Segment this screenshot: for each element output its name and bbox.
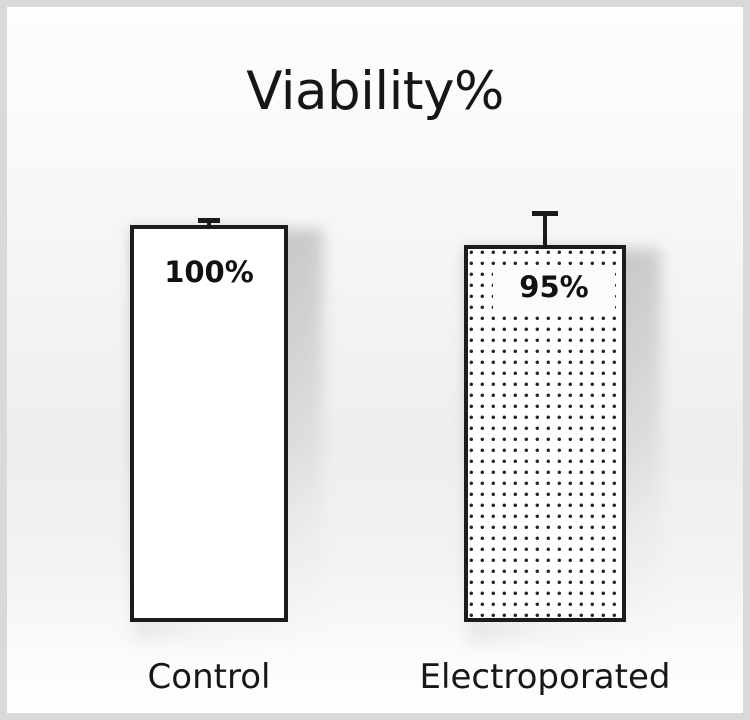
category-label-electroporated: Electroporated (405, 660, 685, 694)
error-bar-electroporated (532, 211, 558, 249)
plot-area: Viability% 100% Control 95% Electroporat… (7, 7, 743, 713)
error-bar-stem-electroporated (543, 215, 547, 249)
chart-figure: Viability% 100% Control 95% Electroporat… (0, 0, 750, 720)
value-label-control: 100% (130, 258, 288, 287)
error-bar-control (198, 218, 220, 227)
value-label-electroporated: 95% (493, 266, 615, 311)
error-bar-stem-control (207, 222, 211, 227)
chart-title: Viability% (7, 65, 743, 118)
category-label-control: Control (108, 660, 310, 694)
